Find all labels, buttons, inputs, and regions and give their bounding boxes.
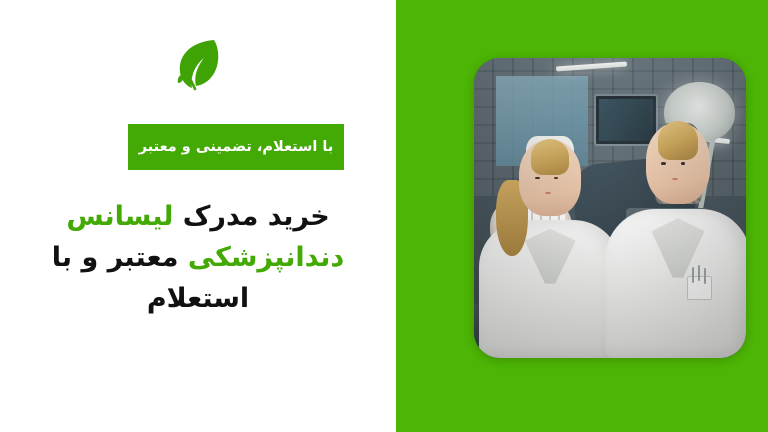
coat-lapel xyxy=(525,229,576,284)
headline-line1-part1: خرید مدرک xyxy=(173,201,329,232)
headline-line1-part2: لیسانس xyxy=(66,201,173,232)
dental-tool-icon xyxy=(704,268,706,284)
coat-lapel xyxy=(652,218,705,278)
hair xyxy=(658,121,698,160)
eye xyxy=(535,177,539,179)
lab-coat xyxy=(605,209,746,358)
logo-area xyxy=(0,34,396,100)
face xyxy=(646,123,711,205)
lips xyxy=(545,192,551,194)
headline-line2-part1: دندانپزشکی xyxy=(188,242,344,273)
guarantee-badge: با استعلام، تضمینی و معتبر xyxy=(128,124,344,170)
dental-tool-icon xyxy=(692,267,694,283)
page-title: خرید مدرک لیسانس دندانپزشکی معتبر و با ا… xyxy=(18,196,378,319)
eye xyxy=(554,177,558,179)
two-female-dentists-photo xyxy=(474,58,746,358)
left-content-panel: با استعلام، تضمینی و معتبر خرید مدرک لیس… xyxy=(0,0,396,432)
leaf-icon xyxy=(170,34,226,100)
guarantee-badge-label: با استعلام، تضمینی و معتبر xyxy=(139,139,334,155)
dentist-right xyxy=(605,118,746,358)
coat-pocket xyxy=(687,276,713,300)
eye xyxy=(661,162,666,165)
right-image-panel xyxy=(396,0,768,432)
dental-tool-icon xyxy=(698,265,700,281)
dentist-left xyxy=(479,136,620,358)
headline-line3: استعلام xyxy=(147,283,249,314)
face xyxy=(519,140,581,215)
poster-canvas: با استعلام، تضمینی و معتبر خرید مدرک لیس… xyxy=(0,0,768,432)
headline-line2-part2: معتبر و با xyxy=(52,242,188,273)
lips xyxy=(672,178,678,180)
eye xyxy=(681,162,686,165)
hair xyxy=(531,139,570,175)
